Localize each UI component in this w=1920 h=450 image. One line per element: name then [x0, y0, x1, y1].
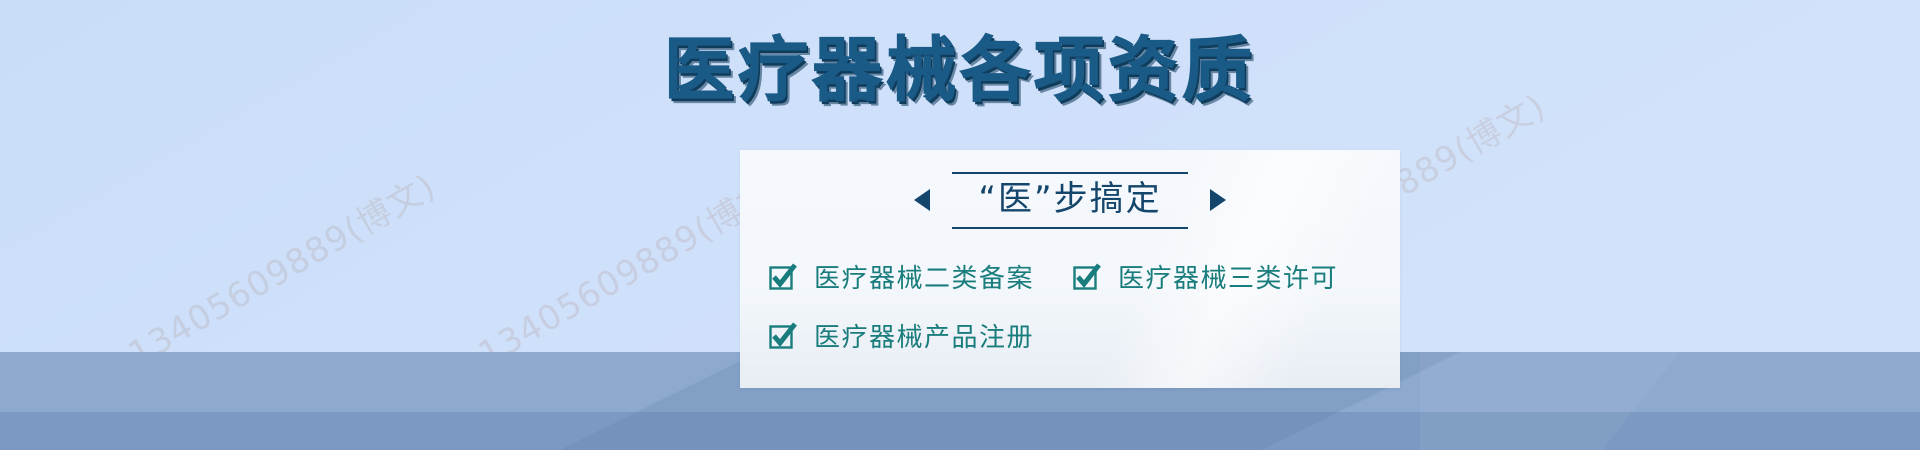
title-wrap: 医疗器械各项资质	[0, 34, 1920, 108]
page-title: 医疗器械各项资质	[664, 34, 1256, 108]
checklist: 医疗器械二类备案 医疗器械三类许可	[768, 258, 1380, 376]
subtitle-box: “医”步搞定	[952, 172, 1187, 229]
list-item-label: 医疗器械三类许可	[1118, 258, 1338, 295]
checklist-row: 医疗器械二类备案 医疗器械三类许可	[768, 258, 1380, 295]
watermark-text: 13405609889(博文)	[118, 160, 443, 376]
list-item-label: 医疗器械二类备案	[814, 258, 1034, 295]
list-item-label: 医疗器械产品注册	[814, 317, 1034, 354]
triangle-right-icon[interactable]	[1210, 189, 1226, 211]
list-item[interactable]: 医疗器械二类备案	[768, 258, 1034, 295]
subtitle-text: “医”步搞定	[978, 178, 1161, 221]
subtitle-row: “医”步搞定	[740, 172, 1400, 229]
triangle-left-icon[interactable]	[914, 189, 930, 211]
banner-root: 13405609889(博文) 13405609889(博文) 13405609…	[0, 0, 1920, 450]
checkbox-checked-icon[interactable]	[768, 263, 796, 291]
checklist-row: 医疗器械产品注册	[768, 317, 1380, 354]
list-item[interactable]: 医疗器械三类许可	[1072, 258, 1338, 295]
list-item[interactable]: 医疗器械产品注册	[768, 317, 1034, 354]
checkbox-checked-icon[interactable]	[768, 322, 796, 350]
checkbox-checked-icon[interactable]	[1072, 263, 1100, 291]
content-panel: “医”步搞定 医疗器械二类备案	[740, 150, 1400, 388]
